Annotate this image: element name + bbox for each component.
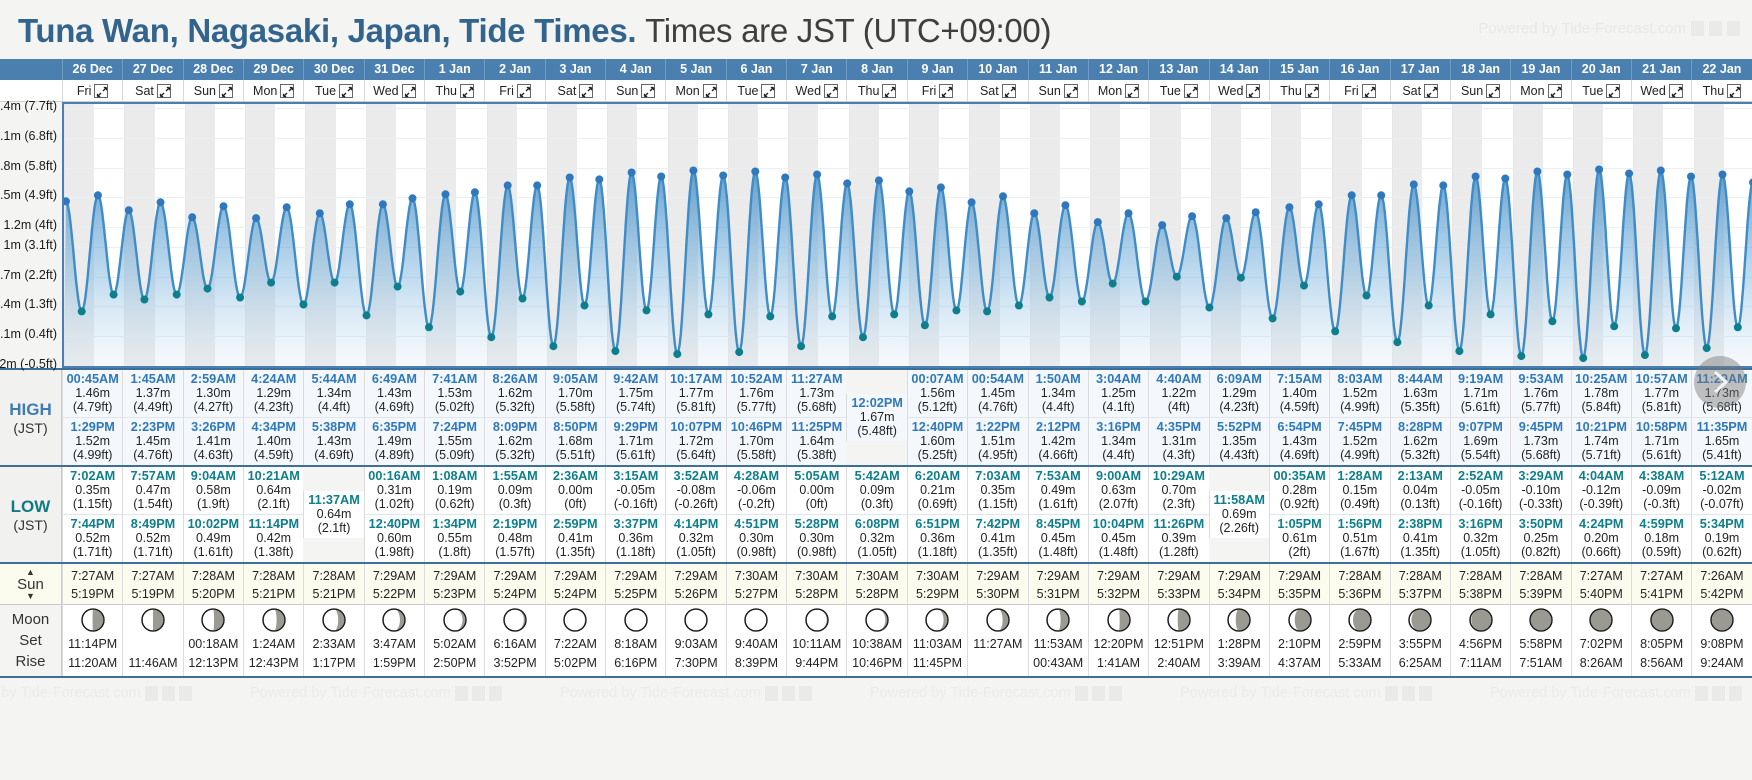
weekday-cell: Sat xyxy=(122,80,182,101)
low-tide-meters: 0.47m xyxy=(123,483,182,497)
high-tide-meters: 1.35m xyxy=(1210,434,1269,448)
high-tide-meters: 1.76m xyxy=(1511,386,1570,400)
low-tide-meters: -0.08m xyxy=(666,483,725,497)
high-tide-point xyxy=(875,176,883,184)
weekday-label: Thu xyxy=(858,80,880,101)
moonrise-time: 4:37AM xyxy=(1270,654,1329,673)
high-tide-meters: 1.71m xyxy=(1451,386,1510,400)
watermark-flag-icon xyxy=(1729,686,1742,701)
date-header-cell[interactable]: 7 Jan xyxy=(786,59,846,80)
low-tide-entry: 7:53AM0.49m(1.61ft) xyxy=(1028,467,1088,514)
low-tide-point xyxy=(1610,322,1618,330)
low-tide-meters: 0.51m xyxy=(1330,531,1389,545)
low-tide-entry: 3:29AM-0.10m(-0.33ft) xyxy=(1510,467,1570,514)
high-tide-time: 8:03AM xyxy=(1330,372,1389,386)
high-tide-entry: 8:26AM1.62m(5.32ft) xyxy=(484,370,544,417)
high-tide-feet: (4.23ft) xyxy=(244,400,303,414)
sunrise-time: 7:30AM xyxy=(908,567,967,585)
moon-phase-icon xyxy=(1149,605,1208,635)
date-header-cell[interactable]: 20 Jan xyxy=(1571,59,1631,80)
low-tide-meters: -0.05m xyxy=(1451,483,1510,497)
high-tide-entry: 9:42AM1.75m(5.74ft) xyxy=(605,370,665,417)
low-tide-time: 12:40PM xyxy=(365,517,424,531)
low-tide-entry: 1:56PM0.51m(1.67ft) xyxy=(1329,514,1389,562)
expand-day-icon[interactable] xyxy=(882,84,896,98)
high-tide-time: 7:45PM xyxy=(1330,420,1389,434)
expand-day-icon[interactable] xyxy=(761,84,775,98)
high-tide-feet: (5.68ft) xyxy=(787,400,846,414)
expand-day-icon[interactable] xyxy=(1606,84,1620,98)
high-tide-point xyxy=(843,179,851,187)
moonrise-time: 8:39PM xyxy=(727,654,786,673)
high-tide-point xyxy=(566,174,574,182)
date-header-cell[interactable]: 17 Jan xyxy=(1390,59,1450,80)
sunrise-time: 7:29AM xyxy=(1270,567,1329,585)
high-tide-point xyxy=(813,171,821,179)
sunset-time: 5:28PM xyxy=(787,585,846,603)
low-tide-meters: 0.41m xyxy=(546,531,605,545)
date-header-cell[interactable]: 3 Jan xyxy=(545,59,605,80)
date-header-cell[interactable]: 18 Jan xyxy=(1450,59,1510,80)
low-tide-feet: (1.35ft) xyxy=(1391,545,1450,559)
expand-day-icon[interactable] xyxy=(1486,84,1500,98)
date-header-cell[interactable]: 26 Dec xyxy=(62,59,122,80)
expand-day-icon[interactable] xyxy=(1246,84,1260,98)
sun-day-cell: 7:29AM5:35PM xyxy=(1269,564,1329,606)
moonrise-time: 12:43PM xyxy=(244,654,303,673)
high-tide-time: 11:35PM xyxy=(1692,420,1751,434)
low-tide-point xyxy=(921,321,929,329)
sunrise-time: 7:29AM xyxy=(365,567,424,585)
moon-phase-icon xyxy=(1391,605,1450,635)
watermark-flag-icon xyxy=(1419,686,1432,701)
y-axis-tick-label: 2.1m (6.8ft) xyxy=(0,129,57,143)
low-tide-entry: 11:26PM0.39m(1.28ft) xyxy=(1148,514,1208,562)
weekday-label: Sat xyxy=(1402,80,1421,101)
low-tide-feet: (-0.2ft) xyxy=(727,497,786,511)
weekday-label: Sun xyxy=(616,80,638,101)
low-tide-meters: 0.49m xyxy=(1029,483,1088,497)
low-tide-time: 11:26PM xyxy=(1149,517,1208,531)
high-tide-point xyxy=(1061,201,1069,209)
low-tide-feet: (1.05ft) xyxy=(1451,545,1510,559)
low-tide-point xyxy=(1393,338,1401,346)
expand-day-icon[interactable] xyxy=(517,84,531,98)
high-tide-entry: 7:45PM1.52m(4.99ft) xyxy=(1329,417,1389,465)
high-tide-meters: 1.55m xyxy=(425,434,484,448)
high-tide-meters: 1.31m xyxy=(1149,434,1208,448)
weekday-label: Mon xyxy=(675,80,699,101)
moonrise-time: 6:25AM xyxy=(1391,654,1450,673)
low-tide-entry: 5:28PM0.30m(0.98ft) xyxy=(786,514,846,562)
sunrise-time: 7:28AM xyxy=(1330,567,1389,585)
moon-day-cell: 10:11AM9:44PM xyxy=(786,605,846,676)
high-tide-day-cell: 1:45AM1.37m(4.49ft)2:23PM1.45m(4.76ft) xyxy=(122,370,182,465)
high-tide-point xyxy=(781,174,789,182)
low-tide-time: 7:42PM xyxy=(968,517,1027,531)
high-tide-time: 4:24AM xyxy=(244,372,303,386)
date-header-cell[interactable]: 6 Jan xyxy=(726,59,786,80)
moon-phase-icon xyxy=(847,605,906,635)
low-tide-time: 3:15AM xyxy=(606,469,665,483)
low-tide-time: 00:35AM xyxy=(1270,469,1329,483)
low-tide-entry: 6:08PM0.32m(1.05ft) xyxy=(846,514,906,562)
expand-day-icon[interactable] xyxy=(280,84,294,98)
moonset-time: 8:05PM xyxy=(1632,635,1691,654)
date-header-cell[interactable]: 12 Jan xyxy=(1088,59,1148,80)
expand-day-icon[interactable] xyxy=(641,84,655,98)
low-tide-day-cell: 6:20AM0.21m(0.69ft)6:51PM0.36m(1.18ft) xyxy=(907,467,967,562)
low-tide-feet: (1.05ft) xyxy=(666,545,725,559)
watermark-refresh-icon xyxy=(1402,686,1415,701)
weekday-cell: Fri xyxy=(1329,80,1389,101)
sunset-time: 5:24PM xyxy=(485,585,544,603)
high-tide-entry: 9:45PM1.73m(5.68ft) xyxy=(1510,417,1570,465)
high-tide-point xyxy=(504,181,512,189)
low-tide-feet: (1.54ft) xyxy=(123,497,182,511)
expand-day-icon[interactable] xyxy=(579,84,593,98)
sun-day-cell: 7:27AM5:41PM xyxy=(1631,564,1691,606)
date-header-cell[interactable]: 16 Jan xyxy=(1329,59,1389,80)
high-tide-day-cell: 8:03AM1.52m(4.99ft)7:45PM1.52m(4.99ft) xyxy=(1329,370,1389,465)
sun-day-cell: 7:29AM5:30PM xyxy=(967,564,1027,606)
high-tide-feet: (4.99ft) xyxy=(1330,400,1389,414)
date-header-cell[interactable]: 5 Jan xyxy=(665,59,725,80)
high-tide-meters: 1.34m xyxy=(1089,434,1148,448)
high-tide-entry: 6:35PM1.49m(4.89ft) xyxy=(364,417,424,465)
low-tide-point xyxy=(1109,280,1117,288)
expand-day-icon[interactable] xyxy=(1548,84,1562,98)
chart-plot-area[interactable] xyxy=(62,102,1752,368)
high-tide-entry: 11:27AM1.73m(5.68ft) xyxy=(786,370,846,417)
moonset-time: 5:58PM xyxy=(1511,635,1570,654)
date-header-cell[interactable]: 2 Jan xyxy=(484,59,544,80)
moonrise-time: 8:56AM xyxy=(1632,654,1691,673)
low-tide-point xyxy=(1641,351,1649,359)
date-header-cell[interactable]: 8 Jan xyxy=(846,59,906,80)
low-tide-point xyxy=(78,307,86,315)
high-tide-entry: 10:17AM1.77m(5.81ft) xyxy=(665,370,725,417)
moon-phase-icon xyxy=(1632,605,1691,635)
weekday-cell: Sun xyxy=(1028,80,1088,101)
low-tide-entry: 5:42AM0.09m(0.3ft) xyxy=(846,467,906,514)
low-tide-point xyxy=(267,279,275,287)
watermark-refresh-icon xyxy=(472,686,485,701)
low-tide-time: 5:42AM xyxy=(847,469,906,483)
low-tide-meters: 0.18m xyxy=(1632,531,1691,545)
high-tide-feet: (4.76ft) xyxy=(123,448,182,462)
moon-day-cell: 5:02AM2:50PM xyxy=(424,605,484,676)
watermark-refresh-icon xyxy=(782,686,795,701)
low-tide-entry: 4:28AM-0.06m(-0.2ft) xyxy=(726,467,786,514)
high-tide-feet: (5.64ft) xyxy=(666,448,725,462)
low-tide-point xyxy=(1205,304,1213,312)
low-tide-day-cell: 2:36AM0.00m(0ft)2:59PM0.41m(1.35ft) xyxy=(545,467,605,562)
high-tide-entry: 7:24PM1.55m(5.09ft) xyxy=(424,417,484,465)
low-tide-meters: 0.48m xyxy=(485,531,544,545)
high-tide-meters: 1.43m xyxy=(304,434,363,448)
low-tide-entry: 4:38AM-0.09m(-0.3ft) xyxy=(1631,467,1691,514)
low-tide-meters: 0.32m xyxy=(847,531,906,545)
next-page-button[interactable] xyxy=(1694,356,1746,408)
low-tide-time: 5:34PM xyxy=(1692,517,1751,531)
sunrise-time: 7:27AM xyxy=(1572,567,1631,585)
high-tide-point xyxy=(751,168,759,176)
low-tide-time: 1:05PM xyxy=(1270,517,1329,531)
date-header-cell[interactable]: 27 Dec xyxy=(122,59,182,80)
sunset-time: 5:23PM xyxy=(425,585,484,603)
high-tide-entry: 10:46PM1.70m(5.58ft) xyxy=(726,417,786,465)
expand-day-icon[interactable] xyxy=(1424,84,1438,98)
sunset-time: 5:29PM xyxy=(908,585,967,603)
expand-day-icon[interactable] xyxy=(1305,84,1319,98)
date-header-cell[interactable]: 9 Jan xyxy=(907,59,967,80)
expand-day-icon[interactable] xyxy=(1362,84,1376,98)
low-tide-meters: 0.45m xyxy=(1089,531,1148,545)
low-tide-point xyxy=(1703,344,1711,352)
high-tide-feet: (5.12ft) xyxy=(908,400,967,414)
low-tide-time: 9:00AM xyxy=(1089,469,1148,483)
moon-phase-icon xyxy=(1089,605,1148,635)
low-tide-feet: (-0.16ft) xyxy=(606,497,665,511)
low-tide-day-cell: 00:35AM0.28m(0.92ft)1:05PM0.61m(2ft) xyxy=(1269,467,1329,562)
moonrise-label-text: Rise xyxy=(15,651,45,672)
date-header-cell[interactable]: 29 Dec xyxy=(243,59,303,80)
moonset-time: 9:40AM xyxy=(727,635,786,654)
low-tide-point xyxy=(1548,317,1556,325)
low-tide-meters: 0.19m xyxy=(1692,531,1751,545)
low-tide-point xyxy=(828,312,836,320)
moon-phase-icon xyxy=(1270,605,1329,635)
low-tide-meters: 0.63m xyxy=(1089,483,1148,497)
moonrise-time xyxy=(968,654,1027,673)
high-tide-entry: 9:29PM1.71m(5.61ft) xyxy=(605,417,665,465)
moon-day-cell: 6:16AM3:52PM xyxy=(484,605,544,676)
low-tide-day-cell: 10:29AM0.70m(2.3ft)11:26PM0.39m(1.28ft) xyxy=(1148,467,1208,562)
date-header-cell[interactable]: 19 Jan xyxy=(1510,59,1570,80)
low-tide-meters: 0.64m xyxy=(304,507,363,521)
high-tide-point xyxy=(533,181,541,189)
sunrise-arrow-icon: ▲ xyxy=(26,569,35,576)
low-tide-day-cell: 11:58AM0.69m(2.26ft) xyxy=(1209,467,1269,562)
sunrise-time: 7:28AM xyxy=(244,567,303,585)
expand-day-icon[interactable] xyxy=(402,84,416,98)
moonrise-time: 9:44PM xyxy=(787,654,846,673)
high-tide-time: 8:50PM xyxy=(546,420,605,434)
high-tide-time: 2:23PM xyxy=(123,420,182,434)
weekday-label: Sat xyxy=(558,80,577,101)
low-tide-point xyxy=(425,323,433,331)
high-tide-entry: 1:50AM1.34m(4.4ft) xyxy=(1028,370,1088,417)
date-header-cell[interactable]: 22 Jan xyxy=(1691,59,1751,80)
expand-day-icon[interactable] xyxy=(219,84,233,98)
low-tide-meters: 0.36m xyxy=(606,531,665,545)
low-tide-point xyxy=(1078,298,1086,306)
low-tide-entry: 3:37PM0.36m(1.18ft) xyxy=(605,514,665,562)
expand-day-icon[interactable] xyxy=(1184,84,1198,98)
date-header-cell[interactable]: 30 Dec xyxy=(303,59,363,80)
weekday-label: Sat xyxy=(135,80,154,101)
low-tide-entry: 4:04AM-0.12m(-0.39ft) xyxy=(1571,467,1631,514)
weekday-label: Mon xyxy=(1098,80,1122,101)
weekday-label: Tue xyxy=(1582,80,1603,101)
date-header-cell[interactable]: 15 Jan xyxy=(1269,59,1329,80)
high-tide-time: 11:27AM xyxy=(787,372,846,386)
low-tide-feet: (1.38ft) xyxy=(244,545,303,559)
high-tide-point xyxy=(316,209,324,217)
sunrise-time: 7:29AM xyxy=(1210,567,1269,585)
weekday-cell: Fri xyxy=(62,80,122,101)
sunset-time: 5:37PM xyxy=(1391,585,1450,603)
moon-day-cell: 8:18AM6:16PM xyxy=(605,605,665,676)
expand-day-icon[interactable] xyxy=(339,84,353,98)
date-header-cell[interactable]: 21 Jan xyxy=(1631,59,1691,80)
moon-phase-icon xyxy=(1330,605,1389,635)
low-tide-feet: (1.15ft) xyxy=(968,497,1027,511)
low-tide-time: 3:29AM xyxy=(1511,469,1570,483)
weekday-label: Wed xyxy=(373,80,398,101)
high-tide-time: 4:34PM xyxy=(244,420,303,434)
watermark-bottom-text: Powered by Tide-Forecast.com xyxy=(1180,685,1381,701)
low-tide-point xyxy=(1300,282,1308,290)
high-tide-time: 1:22PM xyxy=(968,420,1027,434)
moonrise-time: 10:46PM xyxy=(847,654,906,673)
expand-day-icon[interactable] xyxy=(703,84,717,98)
high-tide-time: 8:09PM xyxy=(485,420,544,434)
expand-day-icon[interactable] xyxy=(1002,84,1016,98)
high-tide-feet: (4.3ft) xyxy=(1149,448,1208,462)
date-header-cell[interactable]: 14 Jan xyxy=(1209,59,1269,80)
low-tide-point xyxy=(643,306,651,314)
low-tide-time: 2:19PM xyxy=(485,517,544,531)
high-tide-entry: 8:28PM1.62m(5.32ft) xyxy=(1390,417,1450,465)
low-tide-entry: 3:15AM-0.05m(-0.16ft) xyxy=(605,467,665,514)
expand-day-icon[interactable] xyxy=(1669,84,1683,98)
low-tide-time: 9:04AM xyxy=(184,469,243,483)
moon-phase-icon xyxy=(184,605,243,635)
date-header-cell[interactable]: 1 Jan xyxy=(424,59,484,80)
moonset-time: 4:56PM xyxy=(1451,635,1510,654)
high-tide-point xyxy=(1252,208,1260,216)
date-header-cell[interactable]: 4 Jan xyxy=(605,59,665,80)
low-tide-point xyxy=(140,296,148,304)
high-tide-time: 9:42AM xyxy=(606,372,665,386)
high-tide-feet: (4.23ft) xyxy=(1210,400,1269,414)
low-tide-entry: 11:58AM0.69m(2.26ft) xyxy=(1209,491,1269,538)
low-tide-point xyxy=(173,291,181,299)
low-tide-meters: 0.41m xyxy=(968,531,1027,545)
low-tide-time: 10:04PM xyxy=(1089,517,1148,531)
low-tide-meters: 0.70m xyxy=(1149,483,1208,497)
moonset-time: 10:38AM xyxy=(847,635,906,654)
high-tide-feet: (4.76ft) xyxy=(968,400,1027,414)
moon-phase-icon xyxy=(1210,605,1269,635)
high-tide-feet: (5.32ft) xyxy=(1391,448,1450,462)
moon-day-cell: 00:18AM12:13PM xyxy=(183,605,243,676)
sunset-time: 5:19PM xyxy=(123,585,182,603)
high-tide-entry: 6:09AM1.29m(4.23ft) xyxy=(1209,370,1269,417)
high-tide-feet: (5.58ft) xyxy=(546,400,605,414)
date-header-cell[interactable]: 31 Dec xyxy=(364,59,424,80)
high-tide-entry: 9:53AM1.76m(5.77ft) xyxy=(1510,370,1570,417)
expand-day-icon[interactable] xyxy=(1125,84,1139,98)
page-title: Tuna Wan, Nagasaki, Japan, Tide Times. T… xyxy=(18,12,1051,50)
expand-day-icon[interactable] xyxy=(939,84,953,98)
date-header-cell[interactable]: 13 Jan xyxy=(1148,59,1208,80)
high-tide-time: 9:19AM xyxy=(1451,372,1510,386)
high-tide-point xyxy=(64,197,70,205)
expand-day-icon[interactable] xyxy=(1064,84,1078,98)
high-tide-time: 8:28PM xyxy=(1391,420,1450,434)
low-tide-meters: 0.30m xyxy=(727,531,786,545)
low-tide-time: 11:58AM xyxy=(1210,493,1269,507)
high-tide-entry: 12:02PM1.67m(5.48ft) xyxy=(846,394,906,441)
high-tide-time: 9:45PM xyxy=(1511,420,1570,434)
high-tide-meters: 1.22m xyxy=(1149,386,1208,400)
moonset-time: 9:08PM xyxy=(1692,635,1751,654)
low-tide-feet: (1.28ft) xyxy=(1149,545,1208,559)
tide-curve-svg xyxy=(64,104,1752,368)
low-tide-time: 1:56PM xyxy=(1330,517,1389,531)
low-tide-feet: (0.3ft) xyxy=(485,497,544,511)
moon-label: Moon Set Rise xyxy=(0,605,62,676)
expand-day-icon[interactable] xyxy=(824,84,838,98)
high-tide-feet: (4.27ft) xyxy=(184,400,243,414)
high-tide-feet: (5.38ft) xyxy=(787,448,846,462)
low-tide-entry: 2:36AM0.00m(0ft) xyxy=(545,467,605,514)
low-tide-day-cell: 7:02AM0.35m(1.15ft)7:44PM0.52m(1.71ft) xyxy=(62,467,122,562)
high-tide-time: 3:26PM xyxy=(184,420,243,434)
expand-day-icon[interactable] xyxy=(460,84,474,98)
moon-day-cell: 11:14PM11:20AM xyxy=(62,605,122,676)
high-tide-point xyxy=(1158,221,1166,229)
high-tide-meters: 1.52m xyxy=(63,434,122,448)
weekday-cell: Mon xyxy=(1088,80,1148,101)
high-tide-meters: 1.62m xyxy=(485,386,544,400)
y-axis-tick-label: 1.8m (5.8ft) xyxy=(0,159,57,173)
high-tide-meters: 1.45m xyxy=(123,434,182,448)
sun-day-cell: 7:28AM5:21PM xyxy=(243,564,303,606)
expand-day-icon[interactable] xyxy=(1727,84,1741,98)
weekday-cell: Wed xyxy=(1209,80,1269,101)
expand-day-icon[interactable] xyxy=(157,84,171,98)
date-header-cell[interactable]: 28 Dec xyxy=(183,59,243,80)
low-tide-feet: (1.67ft) xyxy=(1330,545,1389,559)
high-tide-day-cell: 8:44AM1.63m(5.35ft)8:28PM1.62m(5.32ft) xyxy=(1390,370,1450,465)
weekday-label: Tue xyxy=(1160,80,1181,101)
high-tide-entry: 11:25PM1.64m(5.38ft) xyxy=(786,417,846,465)
low-tide-entry: 3:52AM-0.08m(-0.26ft) xyxy=(665,467,725,514)
sun-day-cell: 7:27AM5:19PM xyxy=(122,564,182,606)
low-tide-meters: 0.58m xyxy=(184,483,243,497)
moonset-time: 11:53AM xyxy=(1029,635,1088,654)
watermark-refresh-icon xyxy=(1709,21,1722,36)
low-tide-feet: (1.15ft) xyxy=(63,497,122,511)
high-tide-entry: 00:54AM1.45m(4.76ft) xyxy=(967,370,1027,417)
weekday-cell: Wed xyxy=(1631,80,1691,101)
moon-phase-icon xyxy=(485,605,544,635)
low-tide-point xyxy=(331,279,339,287)
high-tide-entry: 9:19AM1.71m(5.61ft) xyxy=(1450,370,1510,417)
expand-day-icon[interactable] xyxy=(94,84,108,98)
low-tide-point xyxy=(1046,294,1054,302)
date-header-cell[interactable]: 10 Jan xyxy=(967,59,1027,80)
high-tide-entry: 3:04AM1.25m(4.1ft) xyxy=(1088,370,1148,417)
low-tide-label-tz: (JST) xyxy=(13,517,47,533)
low-tide-entry: 1:34PM0.55m(1.8ft) xyxy=(424,514,484,562)
date-header-cell[interactable]: 11 Jan xyxy=(1028,59,1088,80)
low-tide-day-cell: 7:57AM0.47m(1.54ft)8:49PM0.52m(1.71ft) xyxy=(122,467,182,562)
